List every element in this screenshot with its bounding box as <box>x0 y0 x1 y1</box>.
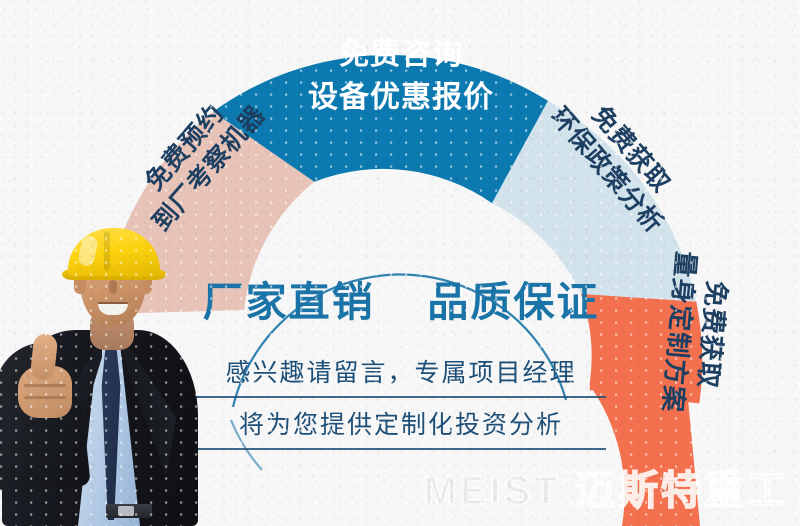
knuckle-line-1 <box>24 384 66 387</box>
headline-left: 厂家直销 <box>203 279 375 325</box>
divider-bottom <box>196 448 606 450</box>
subline-2: 将为您提供定制化投资分析 <box>196 398 606 448</box>
belt-buckle <box>118 506 134 516</box>
watermark: MEIST 迈斯特重工 <box>424 458 790 516</box>
subline-1: 感兴趣请留言，专属项目经理 <box>196 346 606 396</box>
promo-banner: 免费咨询 设备优惠报价 免费预约 到厂考察机器 免费获取 环保政策分析 免费获取… <box>0 0 800 526</box>
center-copy: 厂家直销 品质保证 感兴趣请留言，专属项目经理 将为您提供定制化投资分析 <box>196 268 606 450</box>
divider-top <box>196 396 606 398</box>
headline-right: 品质保证 <box>427 279 599 325</box>
nose <box>109 280 117 294</box>
knuckle-line-2 <box>24 396 66 399</box>
businessman-figure <box>0 218 208 526</box>
hardhat-ridge <box>104 231 110 271</box>
headline: 厂家直销 品质保证 <box>196 268 606 328</box>
